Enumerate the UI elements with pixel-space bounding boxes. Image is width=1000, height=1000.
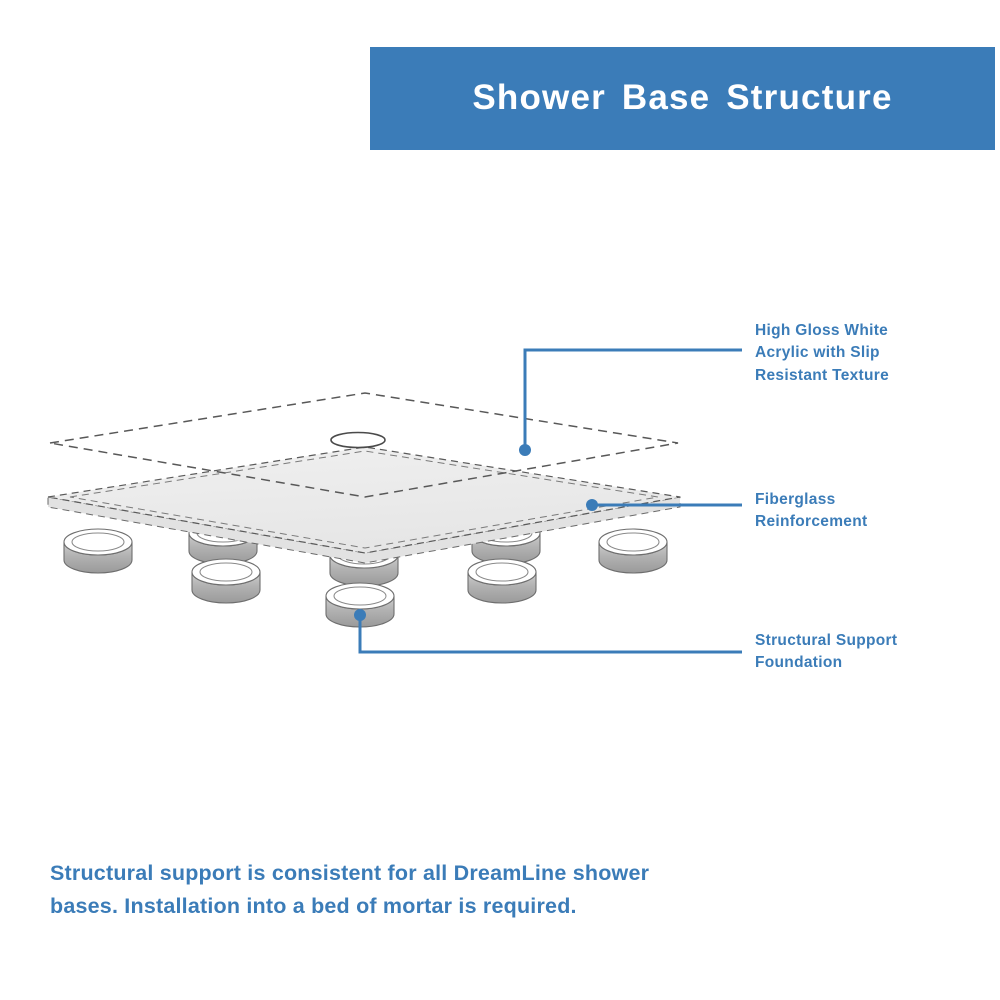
support-ring <box>189 520 257 564</box>
footer-caption: Structural support is consistent for all… <box>50 857 690 922</box>
support-ring <box>330 542 398 586</box>
support-ring <box>192 559 260 603</box>
support-ring-front-center <box>326 583 394 627</box>
leader-line-fiberglass <box>586 499 742 511</box>
support-ring-group-back <box>189 520 540 586</box>
diagram-canvas: Shower Base Structure <box>0 0 1000 1000</box>
support-ring-group-front <box>64 529 667 627</box>
support-ring <box>599 529 667 573</box>
callout-label-fiberglass: Fiberglass Reinforcement <box>755 489 985 534</box>
drain-opening <box>331 433 385 448</box>
page-title: Shower Base Structure <box>472 80 892 117</box>
callout-label-acrylic: High Gloss White Acrylic with Slip Resis… <box>755 320 985 387</box>
acrylic-layer <box>50 393 678 497</box>
support-ring <box>64 529 132 573</box>
support-ring <box>468 559 536 603</box>
title-banner: Shower Base Structure <box>370 47 995 150</box>
leader-line-acrylic <box>519 350 742 456</box>
support-ring <box>472 520 540 564</box>
callout-label-support: Structural Support Foundation <box>755 630 985 675</box>
fiberglass-layer <box>48 447 680 563</box>
leader-line-support <box>354 609 742 652</box>
